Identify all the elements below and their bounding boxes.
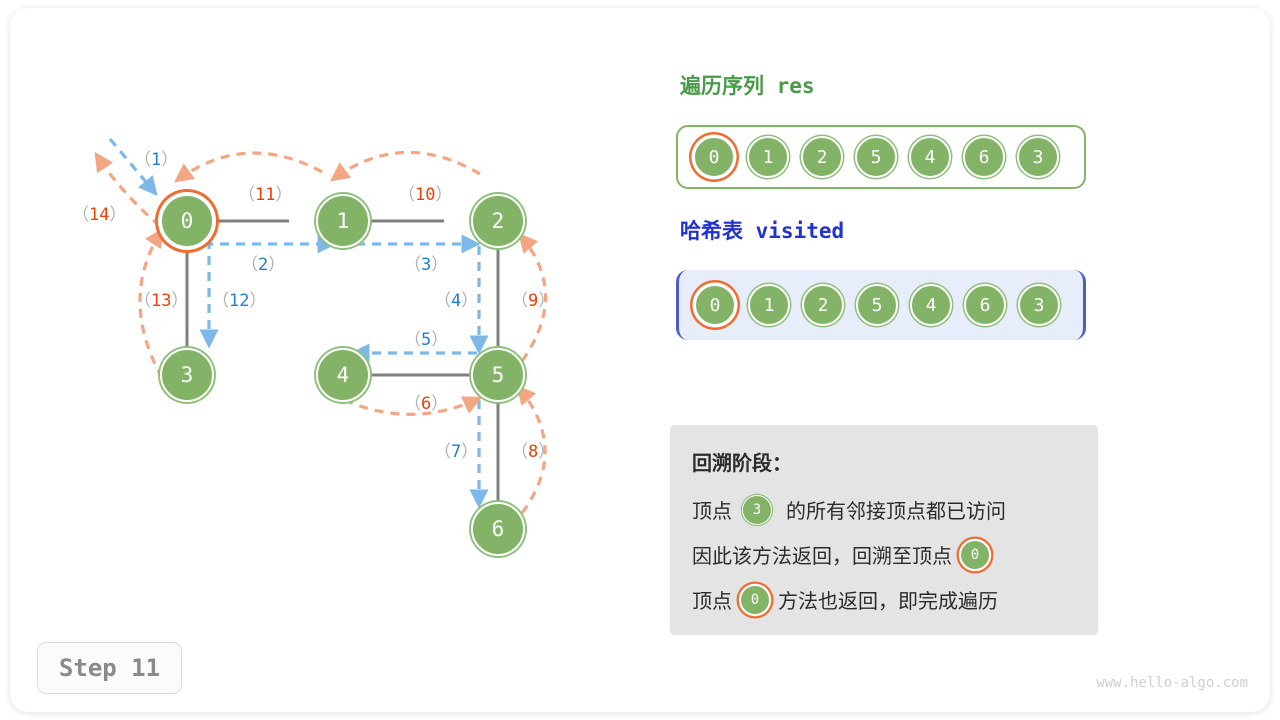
- graph-node-0-label: 0: [181, 209, 194, 233]
- step-label-9: （9）: [511, 286, 555, 311]
- step-label-4: （4）: [434, 286, 478, 311]
- step-label-7-value: 7: [451, 442, 461, 462]
- visited-chip-2-label: 2: [818, 295, 829, 316]
- right-panel: 遍历序列 res 0 1 2 5 4 6 3 哈希表 visited 0 1 2…: [665, 8, 1265, 708]
- graph-node-2-label: 2: [492, 209, 505, 233]
- visited-chip-2[interactable]: 2: [802, 284, 844, 326]
- graph-node-2[interactable]: 2: [471, 194, 525, 248]
- graph-node-5[interactable]: 5: [471, 348, 525, 402]
- step-label-2: （2）: [241, 250, 285, 275]
- res-section-title: 遍历序列 res: [680, 70, 815, 100]
- visited-chip-4[interactable]: 4: [910, 284, 952, 326]
- res-chip-2[interactable]: 2: [801, 136, 843, 178]
- step-label-12: （12）: [212, 286, 266, 311]
- visited-chip-3[interactable]: 5: [856, 284, 898, 326]
- info-header: 回溯阶段：: [692, 447, 1078, 476]
- step-label-9-value: 9: [528, 291, 538, 311]
- info-line-3-chip-label: 0: [751, 592, 759, 608]
- visited-chip-0-label: 0: [710, 295, 721, 316]
- info-line-3-chip: 0: [740, 585, 770, 615]
- graph-node-0[interactable]: 0: [160, 194, 214, 248]
- step-label-12-value: 12: [229, 291, 249, 311]
- graph-svg: [10, 8, 650, 648]
- info-line-1-chip: 3: [742, 495, 772, 525]
- visited-chip-0[interactable]: 0: [694, 284, 736, 326]
- graph-node-6-label: 6: [492, 517, 505, 541]
- graph-node-3-label: 3: [181, 363, 194, 387]
- visited-chip-5[interactable]: 6: [964, 284, 1006, 326]
- step-label-7: （7）: [434, 437, 478, 462]
- step-label-4-value: 4: [451, 291, 461, 311]
- step-label-11: （11）: [238, 180, 292, 205]
- step-label-5: （5）: [404, 325, 448, 350]
- step-badge: Step 11: [37, 642, 182, 694]
- slide-card: 0 1 2 3 4 5 6 （1） （14） （11） （10） （2） （3）…: [10, 8, 1270, 712]
- step-label-1: （1）: [134, 145, 178, 170]
- step-label-13: （13）: [134, 286, 188, 311]
- info-line-1-chip-label: 3: [753, 502, 761, 518]
- graph-node-5-label: 5: [492, 363, 505, 387]
- step-label-10: （10）: [398, 180, 452, 205]
- res-chip-1-label: 1: [763, 147, 774, 168]
- step-label-1-value: 1: [151, 150, 161, 170]
- visited-chip-3-label: 5: [872, 295, 883, 316]
- graph-node-4[interactable]: 4: [316, 348, 370, 402]
- step-label-11-value: 11: [255, 185, 275, 205]
- watermark: www.hello-algo.com: [1096, 675, 1248, 691]
- info-line-2-pre: 因此该方法返回，回溯至顶点: [692, 540, 952, 569]
- visited-section-title: 哈希表 visited: [680, 215, 844, 245]
- info-line-1-pre: 顶点: [692, 495, 732, 524]
- step-label-5-value: 5: [421, 330, 431, 350]
- step-label-14: （14）: [72, 200, 126, 225]
- visited-chip-5-label: 6: [980, 295, 991, 316]
- res-chip-0-label: 0: [709, 147, 720, 168]
- res-chip-5-label: 6: [979, 147, 990, 168]
- visited-chip-1[interactable]: 1: [748, 284, 790, 326]
- info-line-2: 因此该方法返回，回溯至顶点 0: [692, 532, 1078, 577]
- res-chip-3[interactable]: 5: [855, 136, 897, 178]
- visited-chip-6[interactable]: 3: [1018, 284, 1060, 326]
- step-label-6-value: 6: [421, 394, 431, 414]
- res-chip-4[interactable]: 4: [909, 136, 951, 178]
- step-label-8: （8）: [511, 437, 555, 462]
- info-line-2-chip: 0: [960, 540, 990, 570]
- step-label-14-value: 14: [89, 205, 109, 225]
- step-label-2-value: 2: [258, 255, 268, 275]
- visited-chip-6-label: 3: [1034, 295, 1045, 316]
- step-label-6: （6）: [404, 389, 448, 414]
- res-chip-4-label: 4: [925, 147, 936, 168]
- step-label-10-value: 10: [415, 185, 435, 205]
- res-chip-5[interactable]: 6: [963, 136, 1005, 178]
- info-line-3-post: 方法也返回，即完成遍历: [778, 585, 998, 614]
- step-label-13-value: 13: [151, 291, 171, 311]
- graph-node-1-label: 1: [337, 209, 350, 233]
- visited-array: 0 1 2 5 4 6 3: [676, 270, 1086, 340]
- graph-node-4-label: 4: [337, 363, 350, 387]
- visited-chip-1-label: 1: [764, 295, 775, 316]
- step-label-8-value: 8: [528, 442, 538, 462]
- res-chip-1[interactable]: 1: [747, 136, 789, 178]
- visited-chip-4-label: 4: [926, 295, 937, 316]
- info-line-3: 顶点 0 方法也返回，即完成遍历: [692, 577, 1078, 622]
- graph-diagram: 0 1 2 3 4 5 6 （1） （14） （11） （10） （2） （3）…: [10, 8, 650, 648]
- res-chip-3-label: 5: [871, 147, 882, 168]
- res-chip-0[interactable]: 0: [693, 136, 735, 178]
- info-line-2-chip-label: 0: [971, 547, 979, 563]
- info-line-1: 顶点 3 的所有邻接顶点都已访问: [692, 487, 1078, 532]
- graph-node-3[interactable]: 3: [160, 348, 214, 402]
- info-line-1-post: 的所有邻接顶点都已访问: [786, 495, 1006, 524]
- res-chip-2-label: 2: [817, 147, 828, 168]
- info-box: 回溯阶段： 顶点 3 的所有邻接顶点都已访问 因此该方法返回，回溯至顶点 0 顶…: [670, 425, 1098, 635]
- graph-node-6[interactable]: 6: [471, 502, 525, 556]
- info-line-3-pre: 顶点: [692, 585, 732, 614]
- step-label-3-value: 3: [421, 255, 431, 275]
- res-array: 0 1 2 5 4 6 3: [676, 125, 1086, 189]
- step-label-3: （3）: [404, 250, 448, 275]
- res-chip-6-label: 3: [1033, 147, 1044, 168]
- graph-node-1[interactable]: 1: [316, 194, 370, 248]
- res-chip-6[interactable]: 3: [1017, 136, 1059, 178]
